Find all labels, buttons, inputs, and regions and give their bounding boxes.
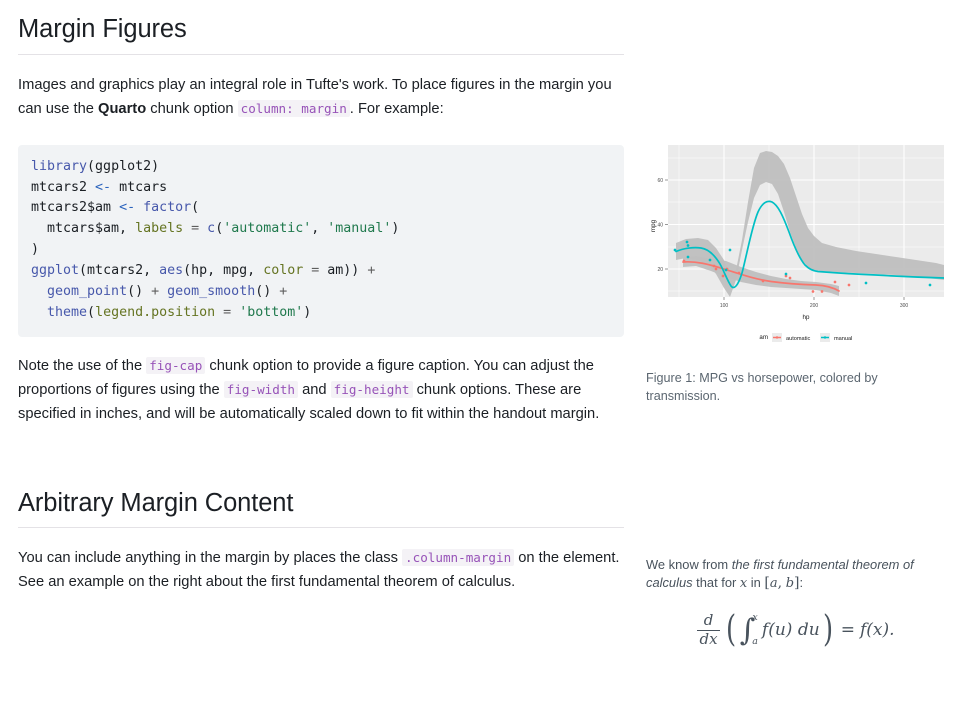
figcap-paragraph: Note the use of the fig-cap chunk option… [18, 354, 624, 426]
code-token: + [151, 284, 159, 299]
document-page: Margin Figures Images and graphics play … [0, 0, 965, 723]
code-token: c [207, 221, 215, 236]
code-token [215, 305, 223, 320]
code-token: 'manual' [327, 221, 391, 236]
x-axis-ticks: 100 200 300 [720, 297, 909, 309]
figure-caption: Figure 1: MPG vs horsepower, colored by … [646, 369, 941, 405]
code-token [135, 200, 143, 215]
code-token: (hp, mpg, [183, 263, 263, 278]
code-token: am)) [319, 263, 367, 278]
fraction-denominator: dx [697, 631, 719, 648]
code-token: ( [191, 200, 199, 215]
code-token: mtcars$am, [31, 221, 135, 236]
code-token: = [223, 305, 231, 320]
code-token: <- [95, 180, 111, 195]
ggplot-chart: 20 40 60 100 200 300 [646, 140, 946, 355]
figcap-text-part-1: Note the use of the [18, 358, 146, 374]
mpg-vs-hp-scatter-plot: 20 40 60 100 200 300 [646, 140, 946, 355]
legend-title: am [759, 334, 768, 341]
code-token: mtcars2$am [31, 200, 119, 215]
x-tick-300: 300 [900, 303, 909, 309]
code-token: + [279, 284, 287, 299]
x-tick-100: 100 [720, 303, 729, 309]
y-tick-60: 60 [657, 178, 663, 184]
code-token: () [255, 284, 279, 299]
code-token [31, 284, 47, 299]
r-code-block: library(ggplot2) mtcars2 <- mtcars mtcar… [18, 145, 624, 337]
code-token [183, 221, 191, 236]
intro-text-part-3: . For example: [350, 101, 444, 117]
code-token: labels [135, 221, 183, 236]
code-token: 'bottom' [239, 305, 303, 320]
math-interval-comma: , [778, 575, 782, 591]
code-token: (mtcars2, [79, 263, 159, 278]
equals-sign: = [841, 621, 855, 639]
margin-figure-1: 20 40 60 100 200 300 [646, 140, 946, 405]
code-token: legend.position [95, 305, 215, 320]
code-token: theme [47, 305, 87, 320]
code-token: ( [215, 221, 223, 236]
code-token: ( [87, 305, 95, 320]
legend-label-manual: manual [834, 336, 852, 342]
chart-legend: am automatic manual [759, 333, 852, 342]
code-token: aes [159, 263, 183, 278]
code-token: mtcars2 [31, 180, 95, 195]
quarto-bold-term: Quarto [98, 101, 146, 117]
intro-text-part-2: chunk option [146, 101, 237, 117]
code-token: ggplot [31, 263, 79, 278]
y-axis-ticks: 20 40 60 [657, 178, 668, 273]
integral-expression: ∫ x a [740, 615, 758, 645]
inline-code-column-margin: column: margin [238, 100, 350, 117]
intro-paragraph: Images and graphics play an integral rol… [18, 73, 624, 121]
code-token: color [263, 263, 303, 278]
code-token [231, 305, 239, 320]
page-title: Margin Figures [18, 14, 624, 45]
display-formula-ftc: d dx ( ∫ x a f(u) du ) = f [646, 611, 946, 648]
paren-close: ) [823, 616, 833, 645]
integral-upper-limit: x [752, 613, 758, 623]
margin-note-calculus: We know from the first fundamental theor… [646, 556, 946, 648]
code-token: ) [31, 242, 39, 257]
code-token: geom_point [47, 284, 127, 299]
y-tick-20: 20 [657, 267, 663, 273]
math-interval-b: b [786, 576, 794, 591]
inline-code-fig-cap: fig-cap [146, 357, 205, 374]
legend-label-automatic: automatic [786, 336, 810, 342]
margin-note-text-part-4: : [800, 575, 804, 590]
code-token: , [311, 221, 327, 236]
margin-note-text-part-1: We know from [646, 557, 732, 572]
x-axis-title: hp [803, 314, 810, 321]
code-token [159, 284, 167, 299]
inline-code-column-margin-class: .column-margin [402, 549, 514, 566]
y-axis-title: mpg [650, 219, 657, 232]
inline-code-fig-height: fig-height [331, 381, 413, 398]
code-token: library [31, 159, 87, 174]
integral-lower-limit: a [752, 637, 758, 647]
code-token: <- [119, 200, 135, 215]
code-token [199, 221, 207, 236]
section-heading-arbitrary-margin-content: Arbitrary Margin Content [18, 488, 624, 519]
x-tick-200: 200 [810, 303, 819, 309]
code-token: = [191, 221, 199, 236]
code-token: mtcars [111, 180, 167, 195]
code-token: + [367, 263, 375, 278]
fraction-numerator: d [702, 613, 716, 630]
integrand: f(u) du [762, 621, 820, 639]
heading-divider [18, 54, 624, 55]
code-token: ) [391, 221, 399, 236]
math-interval-a: a [770, 576, 778, 591]
derivative-fraction: d dx [697, 613, 719, 648]
figcap-text-part-3: and [298, 382, 331, 398]
code-token: (ggplot2) [87, 159, 159, 174]
paren-open: ( [726, 616, 736, 645]
code-token: ) [303, 305, 311, 320]
heading-divider-2 [18, 527, 624, 528]
code-token: () [127, 284, 151, 299]
margin-class-paragraph: You can include anything in the margin b… [18, 546, 624, 594]
code-token: 'automatic' [223, 221, 311, 236]
y-tick-40: 40 [657, 223, 663, 229]
code-token: geom_smooth [167, 284, 255, 299]
inline-code-fig-width: fig-width [224, 381, 298, 398]
margin-note-text-part-2: that for [693, 575, 740, 590]
formula-rhs: f(x). [860, 621, 895, 639]
main-content-column: Margin Figures Images and graphics play … [18, 0, 624, 610]
margin-note-text-part-3: in [747, 575, 764, 590]
code-token: factor [143, 200, 191, 215]
margin-class-text-part-1: You can include anything in the margin b… [18, 550, 402, 566]
code-token [31, 305, 47, 320]
